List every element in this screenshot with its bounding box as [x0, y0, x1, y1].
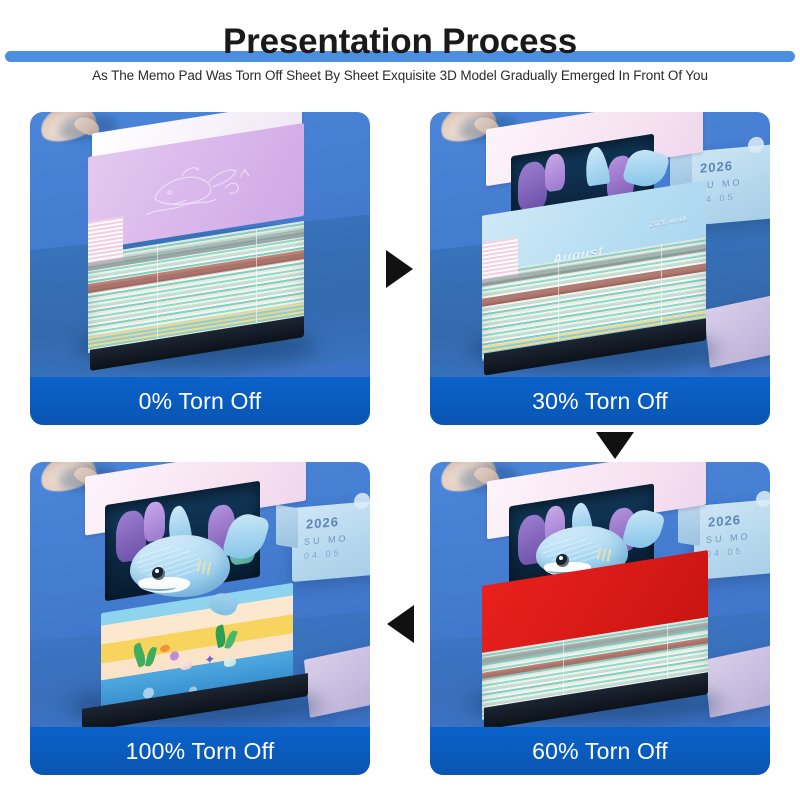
- seaweed-icon: [224, 630, 238, 649]
- page-title: Presentation Process: [217, 20, 583, 64]
- starfish-icon: ✦: [204, 652, 215, 667]
- panel-caption-bar: 100% Torn Off: [30, 727, 370, 775]
- page-title-wrap: Presentation Process: [0, 20, 800, 64]
- memo-pad-stack: [88, 140, 304, 352]
- header: Presentation Process As The Memo Pad Was…: [0, 0, 800, 104]
- whale-layer-rings: [136, 547, 202, 579]
- panel-caption-bar: 0% Torn Off: [30, 377, 370, 425]
- calendar-prop-knob: [756, 490, 770, 507]
- calendar-prop-year: 2026: [306, 514, 339, 532]
- calendar-print-note: 2026 week: [650, 216, 688, 230]
- whale-eye: [152, 567, 165, 580]
- calendar-prop-knob: [748, 136, 764, 153]
- memo-pad-stack: [482, 488, 708, 710]
- arrow-right-icon: [386, 250, 413, 288]
- whale-layer-rings: [542, 537, 602, 564]
- shell-purple-icon: [169, 651, 178, 661]
- panel-60-percent[interactable]: 2026 SU MO 04 05: [430, 462, 770, 775]
- whale-dorsal-fin: [583, 145, 611, 186]
- infographic-page: Presentation Process As The Memo Pad Was…: [0, 0, 800, 800]
- shell-small-icon: [179, 660, 191, 671]
- whale-gill: [206, 562, 211, 575]
- calendar-prop-knob: [354, 492, 370, 509]
- whale-body: [130, 535, 230, 597]
- whale-gill: [606, 549, 611, 562]
- pad-perforation-line: [558, 260, 559, 348]
- whale-gill: [202, 561, 207, 574]
- panel-0-percent[interactable]: 0% Torn Off: [30, 112, 370, 425]
- whale-eye: [556, 554, 569, 567]
- whale-gill: [602, 548, 607, 561]
- coral-small-icon: [160, 644, 170, 653]
- pad-perforation-line: [661, 244, 662, 332]
- memo-pad-stack: 2026 August SU MO TU WE TH FR SA 02 03 0…: [482, 136, 706, 356]
- whale-pectoral-fin: [206, 588, 240, 619]
- panel-caption-text: 100% Torn Off: [126, 738, 275, 765]
- arrow-down-icon: [596, 432, 634, 459]
- whale-tail-fin: [622, 146, 670, 192]
- panel-caption-bar: 60% Torn Off: [430, 727, 770, 775]
- panel-100-percent[interactable]: 2026 SU MO 04 05: [30, 462, 370, 775]
- seaweed-icon: [144, 647, 156, 667]
- page-subtitle: As The Memo Pad Was Torn Off Sheet By Sh…: [0, 68, 800, 83]
- pad-perforation-line: [157, 244, 158, 342]
- coral-icon: [545, 152, 565, 193]
- pad-perforation-line: [256, 228, 257, 326]
- panel-caption-bar: 30% Torn Off: [430, 377, 770, 425]
- arrow-left-icon: [387, 605, 414, 643]
- calendar-prop-dates: 04 05: [304, 548, 342, 561]
- calendar-prop-weekdays: SU MO: [706, 531, 751, 545]
- calendar-prop-dates: 04 05: [706, 546, 744, 559]
- memo-pad-stack: ✦: [80, 484, 308, 712]
- shell-small-icon: [223, 657, 235, 668]
- calendar-prop-year: 2026: [708, 512, 741, 530]
- panel-caption-text: 30% Torn Off: [532, 388, 668, 415]
- calendar-prop-weekdays: SU MO: [304, 533, 349, 547]
- panel-caption-text: 60% Torn Off: [532, 738, 668, 765]
- panel-30-percent[interactable]: 2026 SU MO 04 05: [430, 112, 770, 425]
- whale-3d-model: [130, 520, 258, 620]
- panel-caption-text: 0% Torn Off: [139, 388, 262, 415]
